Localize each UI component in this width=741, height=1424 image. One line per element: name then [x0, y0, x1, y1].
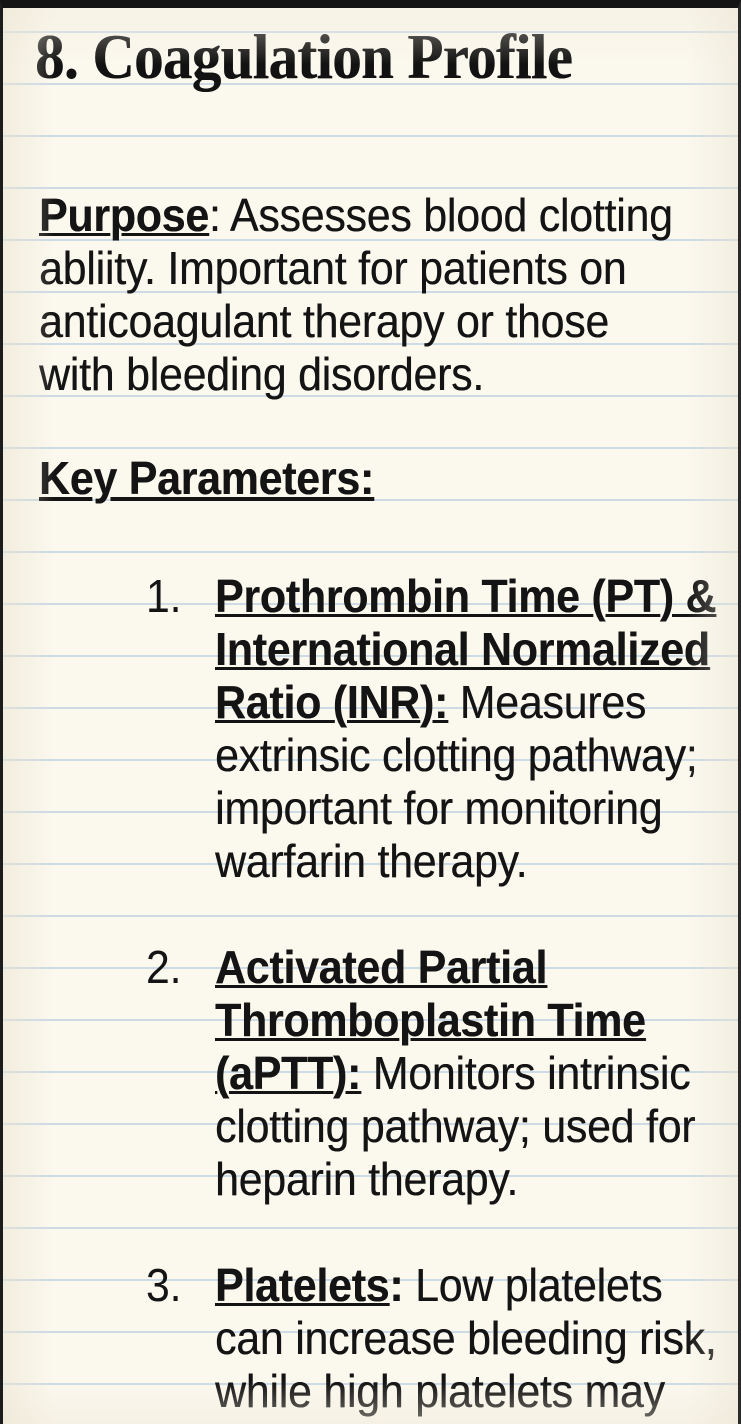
list-marker: 2. [146, 941, 183, 994]
purpose-paragraph: Purpose: Assesses blood clotting abliity… [39, 189, 690, 401]
list-item: 1. Prothrombin Time (PT) & International… [43, 570, 741, 888]
rule-line [3, 447, 738, 449]
rule-line [3, 551, 738, 553]
list-item-body: Platelets: Low platelets can increase bl… [215, 1259, 735, 1424]
list-item-body: Activated Partial Thromboplastin Time (a… [215, 941, 735, 1206]
list-item: 2. Activated Partial Thromboplastin Time… [43, 941, 741, 1206]
list-marker: 3. [146, 1259, 183, 1312]
parameter-term: Platelets [215, 1259, 389, 1311]
purpose-separator: : [209, 189, 230, 241]
rule-line [3, 135, 738, 137]
list-marker: 1. [146, 570, 183, 623]
list-item: 3. Platelets: Low platelets can increase… [43, 1259, 741, 1424]
page-title: 8. Coagulation Profile [35, 20, 572, 94]
notebook-page: 8. Coagulation Profile Purpose: Assesses… [0, 0, 741, 1424]
key-parameters-heading: Key Parameters: [39, 452, 374, 505]
parameters-list: 1. Prothrombin Time (PT) & International… [3, 570, 741, 1424]
parameter-term-tail: : [389, 1259, 403, 1311]
list-item-body: Prothrombin Time (PT) & International No… [215, 570, 735, 888]
purpose-label: Purpose [39, 189, 209, 241]
